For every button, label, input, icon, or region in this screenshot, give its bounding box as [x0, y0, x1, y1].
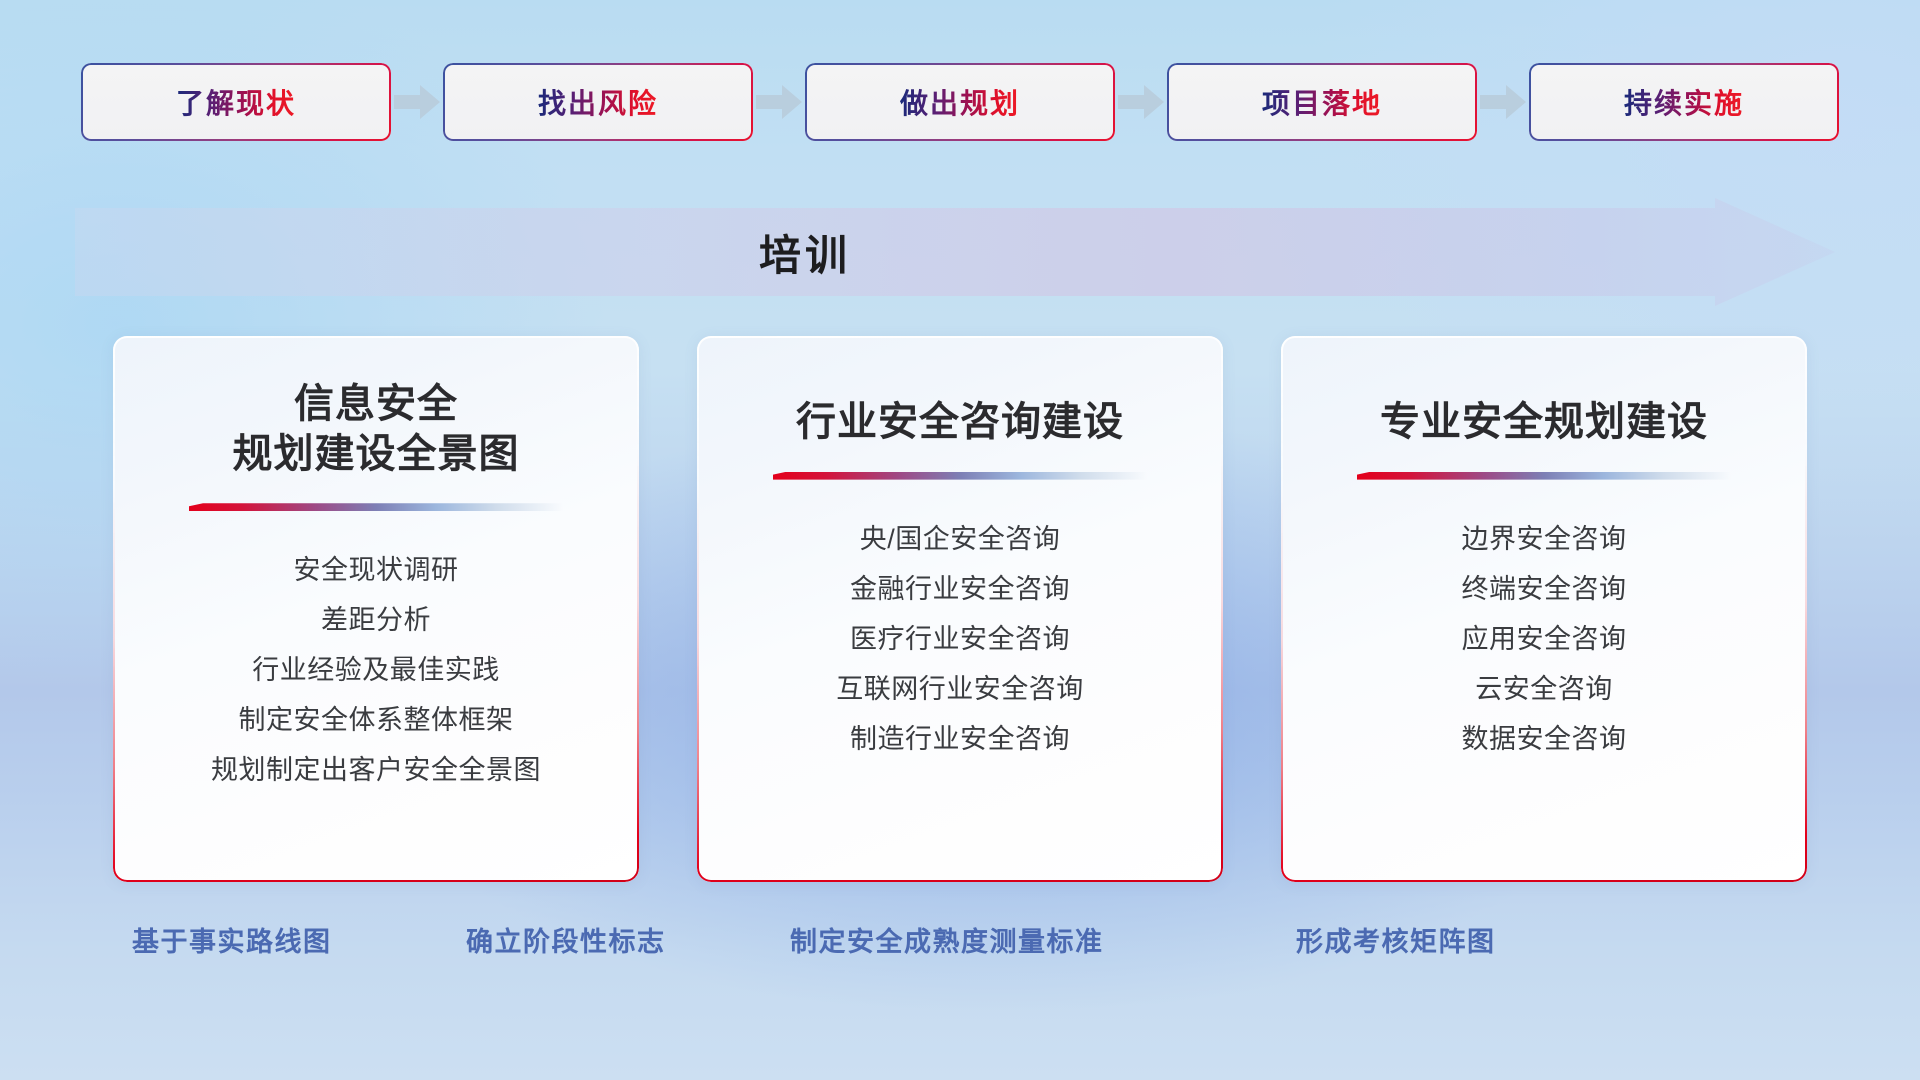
card-row: 信息安全 规划建设全景图安全现状调研差距分析行业经验及最佳实践制定安全体系整体框…: [0, 336, 1920, 882]
list-item: 差距分析: [321, 595, 431, 645]
list-item: 安全现状调研: [294, 545, 459, 595]
step-box-3[interactable]: 做出规划: [805, 63, 1115, 141]
step-label: 做出规划: [900, 82, 1020, 122]
footer-label-1: 基于事实路线图: [132, 920, 332, 959]
banner-title: 培训: [75, 198, 1835, 306]
training-banner: 培训: [75, 198, 1835, 306]
step-arrow-icon-1: [391, 63, 443, 141]
step-label: 找出风险: [538, 82, 658, 122]
list-item: 数据安全咨询: [1462, 714, 1627, 764]
step-arrow-icon-3: [1115, 63, 1167, 141]
step-box-1[interactable]: 了解现状: [81, 63, 391, 141]
list-item: 央/国企安全咨询: [860, 514, 1061, 564]
step-box-4[interactable]: 项目落地: [1167, 63, 1477, 141]
list-item: 规划制定出客户安全全景图: [211, 745, 541, 795]
footer-label-4: 形成考核矩阵图: [1296, 920, 1496, 959]
list-item: 互联网行业安全咨询: [836, 664, 1084, 714]
step-label: 项目落地: [1262, 82, 1382, 122]
list-item: 应用安全咨询: [1462, 614, 1627, 664]
service-card-1[interactable]: 信息安全 规划建设全景图安全现状调研差距分析行业经验及最佳实践制定安全体系整体框…: [113, 336, 639, 882]
footer-label-2: 确立阶段性标志: [466, 920, 666, 959]
list-item: 金融行业安全咨询: [850, 564, 1070, 614]
card-item-list: 央/国企安全咨询金融行业安全咨询医疗行业安全咨询互联网行业安全咨询制造行业安全咨…: [697, 514, 1223, 764]
card-item-list: 边界安全咨询终端安全咨询应用安全咨询云安全咨询数据安全咨询: [1281, 514, 1807, 764]
card-title: 行业安全咨询建设: [796, 398, 1124, 448]
footer-label-3: 制定安全成熟度测量标准: [790, 920, 1104, 959]
list-item: 云安全咨询: [1475, 664, 1613, 714]
step-box-5[interactable]: 持续实施: [1529, 63, 1839, 141]
card-divider: [1357, 472, 1731, 480]
slide-canvas: 了解现状找出风险做出规划项目落地持续实施 培训 信息安全 规划建设全景图安全现状…: [0, 0, 1920, 1080]
card-divider: [189, 503, 563, 511]
card-inner: 信息安全 规划建设全景图安全现状调研差距分析行业经验及最佳实践制定安全体系整体框…: [113, 336, 639, 882]
process-step-row: 了解现状找出风险做出规划项目落地持续实施: [0, 62, 1920, 142]
step-label: 了解现状: [176, 82, 296, 122]
card-divider-wrap: [697, 448, 1223, 480]
card-divider-wrap: [113, 479, 639, 511]
service-card-3[interactable]: 专业安全规划建设边界安全咨询终端安全咨询应用安全咨询云安全咨询数据安全咨询: [1281, 336, 1807, 882]
list-item: 医疗行业安全咨询: [850, 614, 1070, 664]
step-arrow-icon-4: [1477, 63, 1529, 141]
card-divider-wrap: [1281, 448, 1807, 480]
list-item: 边界安全咨询: [1462, 514, 1627, 564]
step-arrow-icon-2: [753, 63, 805, 141]
service-card-2[interactable]: 行业安全咨询建设央/国企安全咨询金融行业安全咨询医疗行业安全咨询互联网行业安全咨…: [697, 336, 1223, 882]
step-label: 持续实施: [1624, 82, 1744, 122]
list-item: 终端安全咨询: [1462, 564, 1627, 614]
card-divider: [773, 472, 1147, 480]
list-item: 制造行业安全咨询: [850, 714, 1070, 764]
card-inner: 行业安全咨询建设央/国企安全咨询金融行业安全咨询医疗行业安全咨询互联网行业安全咨…: [697, 336, 1223, 882]
card-item-list: 安全现状调研差距分析行业经验及最佳实践制定安全体系整体框架规划制定出客户安全全景…: [113, 545, 639, 795]
footer-label-row: 基于事实路线图确立阶段性标志制定安全成熟度测量标准形成考核矩阵图: [0, 920, 1920, 974]
step-box-2[interactable]: 找出风险: [443, 63, 753, 141]
card-title: 专业安全规划建设: [1380, 398, 1708, 448]
card-inner: 专业安全规划建设边界安全咨询终端安全咨询应用安全咨询云安全咨询数据安全咨询: [1281, 336, 1807, 882]
list-item: 制定安全体系整体框架: [239, 695, 514, 745]
card-title: 信息安全 规划建设全景图: [233, 380, 520, 479]
list-item: 行业经验及最佳实践: [252, 645, 500, 695]
